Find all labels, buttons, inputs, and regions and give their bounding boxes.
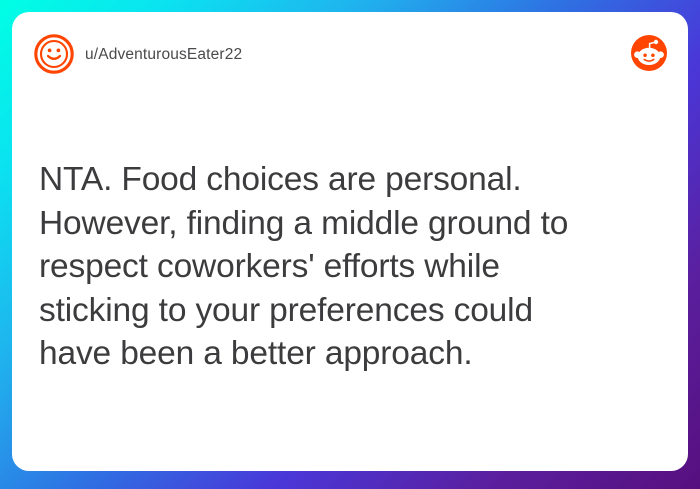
smiley-face-avatar-icon[interactable]: [34, 34, 74, 74]
screenshot-root: u/AdventurousEater22 NTA. Food choices a…: [0, 0, 700, 489]
reddit-snoo-icon[interactable]: [630, 34, 668, 72]
comment-body-text: NTA. Food choices are personal. However,…: [39, 158, 659, 376]
card-header: u/AdventurousEater22: [12, 12, 688, 90]
username-label: u/AdventurousEater22: [85, 45, 242, 64]
reddit-comment-card: u/AdventurousEater22 NTA. Food choices a…: [12, 12, 688, 471]
